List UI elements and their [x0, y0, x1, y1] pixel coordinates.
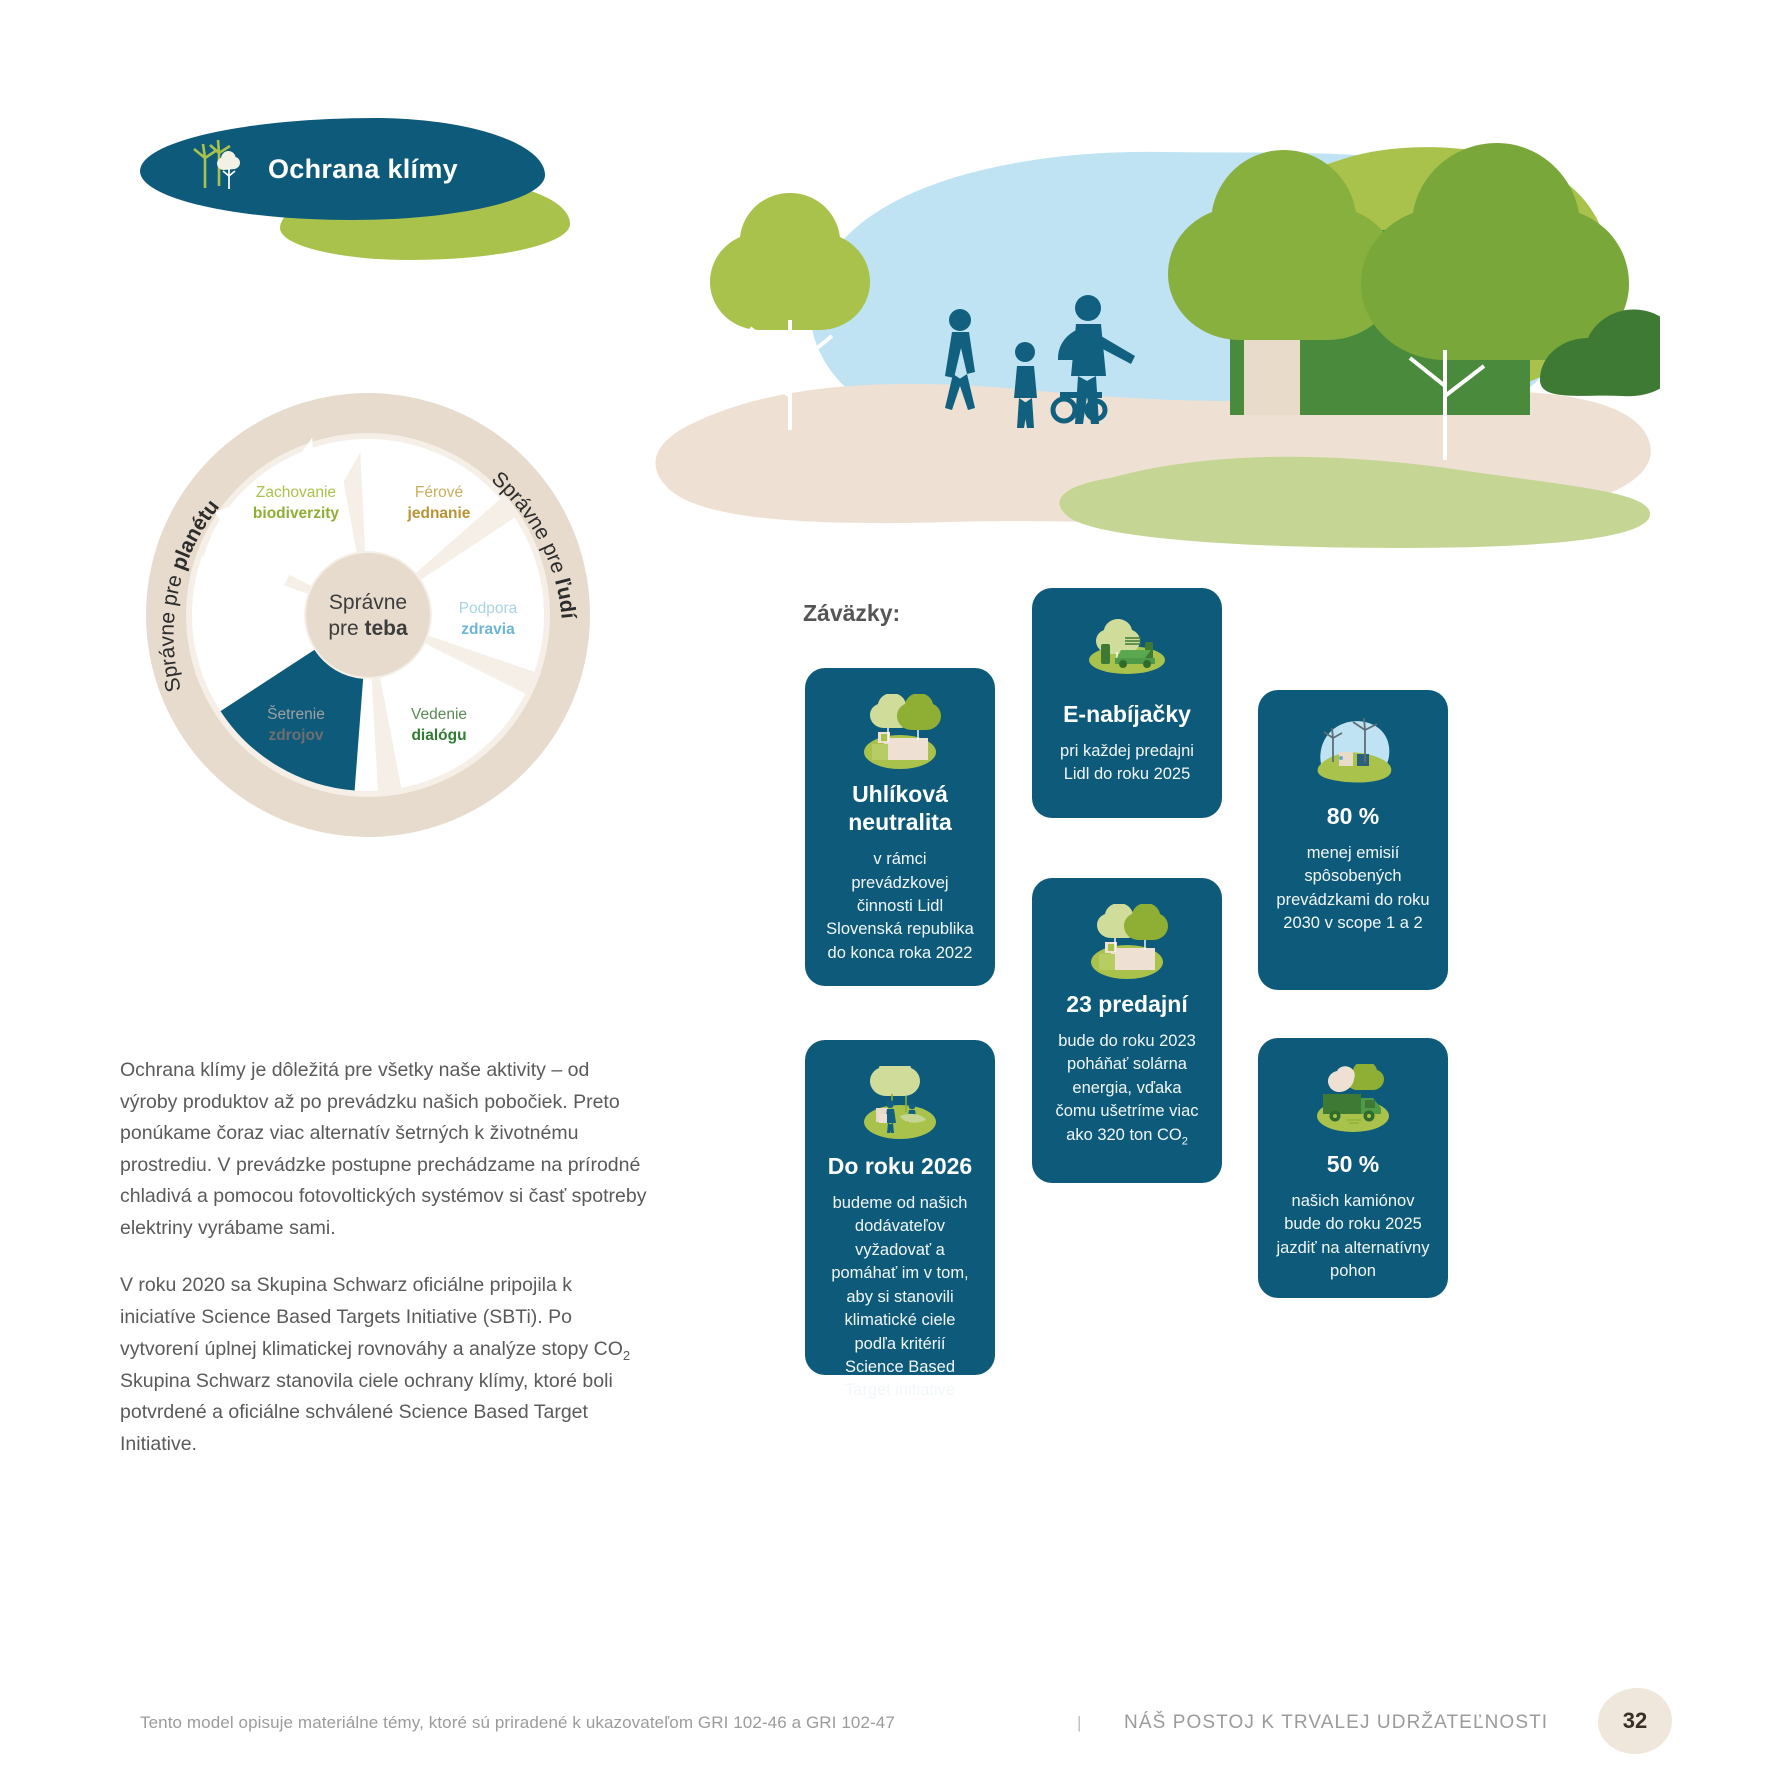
wheel-label-klimy-bottom: klímy — [230, 621, 270, 638]
wheel-label-klimy-top: Ochrana — [220, 600, 280, 617]
wheel-label-zdravia-top: Podpora — [459, 600, 518, 617]
wheel-label-jednanie-bottom: jednanie — [407, 505, 471, 522]
wheel-label-zdravia-bottom: zdravia — [461, 621, 515, 638]
commitments-label: Záväzky: — [803, 600, 900, 627]
wheel-label-jednanie-top: Férové — [415, 484, 463, 501]
footer-separator: | — [1077, 1713, 1081, 1733]
card-body: bude do roku 2023 poháňať solárna energi… — [1050, 1030, 1204, 1150]
commitment-card-carbon-neutrality[interactable]: Uhlíková neutralita v rámci prevádzkovej… — [805, 668, 995, 986]
card-title: E-nabíjačky — [1063, 700, 1191, 728]
report-page: Ochrana klímy — [0, 0, 1785, 1785]
materiality-wheel: Správne pre teba Zachovanie biodiverzity… — [128, 375, 608, 855]
wheel-label-biodiverzity-top: Zachovanie — [256, 484, 336, 501]
card-body: pri každej predajni Lidl do roku 2025 — [1050, 740, 1204, 787]
commitment-card-80-percent-emissions[interactable]: 80 % menej emisií spôsobených prevádzkam… — [1258, 690, 1448, 990]
green-truck-icon — [1307, 1064, 1399, 1144]
windmill-tree-icon — [188, 136, 250, 203]
card-title: Uhlíková neutralita — [823, 780, 977, 836]
ev-charger-car-icon — [1081, 614, 1173, 694]
store-with-trees-icon — [854, 694, 946, 774]
wheel-center-strong: teba — [365, 617, 409, 640]
card-body: v rámci prevádzkovej činnosti Lidl Slove… — [823, 848, 977, 965]
commitment-card-50-percent-trucks[interactable]: 50 % našich kamiónov bude do roku 2025 j… — [1258, 1038, 1448, 1298]
paragraph-2: V roku 2020 sa Skupina Schwarz oficiálne… — [120, 1270, 650, 1460]
farmers-field-icon — [854, 1066, 946, 1146]
commitment-card-23-stores-solar[interactable]: 23 predajní bude do roku 2023 poháňať so… — [1032, 878, 1222, 1183]
page-footer: Tento model opisuje materiálne témy, kto… — [0, 1688, 1785, 1758]
commitment-card-ev-chargers[interactable]: E-nabíjačky pri každej predajni Lidl do … — [1032, 588, 1222, 818]
commitment-card-suppliers-2026[interactable]: Do roku 2026 budeme od našich dodávateľo… — [805, 1040, 995, 1375]
topic-header: Ochrana klímy — [140, 118, 590, 258]
card-title: 80 % — [1327, 802, 1379, 830]
wheel-center-line1: Správne — [329, 591, 407, 614]
wheel-label-biodiverzity-bottom: biodiverzity — [253, 505, 340, 522]
card-title: Do roku 2026 — [828, 1152, 972, 1180]
topic-title: Ochrana klímy — [268, 154, 458, 185]
footer-note: Tento model opisuje materiálne témy, kto… — [140, 1713, 895, 1733]
wheel-label-dialogu-bottom: dialógu — [411, 727, 466, 744]
wheel-center-prefix: pre — [328, 617, 364, 640]
page-number-badge: 32 — [1598, 1688, 1672, 1754]
svg-text:pre teba: pre teba — [328, 617, 408, 640]
card-body: budeme od našich dodávateľov vyžadovať a… — [823, 1192, 977, 1403]
body-copy: Ochrana klímy je dôležitá pre všetky naš… — [120, 1055, 650, 1460]
wind-turbines-icon — [1307, 716, 1399, 796]
wheel-label-dialogu-top: Vedenie — [411, 706, 467, 723]
wheel-label-zdrojov-bottom: zdrojov — [268, 727, 323, 744]
store-solar-icon — [1081, 904, 1173, 984]
card-body: menej emisií spôsobených prevádzkami do … — [1276, 842, 1430, 936]
card-body: našich kamiónov bude do roku 2025 jazdiť… — [1276, 1190, 1430, 1284]
topic-pill: Ochrana klímy — [140, 118, 545, 220]
footer-section-title: NÁŠ POSTOJ K TRVALEJ UDRŽATEĽNOSTI — [1124, 1712, 1548, 1734]
wheel-label-zdrojov-top: Šetrenie — [267, 706, 325, 723]
paragraph-1: Ochrana klímy je dôležitá pre všetky naš… — [120, 1055, 650, 1244]
card-title: 23 predajní — [1066, 990, 1187, 1018]
card-title: 50 % — [1327, 1150, 1379, 1178]
store-with-trees-and-family-illustration — [640, 130, 1660, 550]
